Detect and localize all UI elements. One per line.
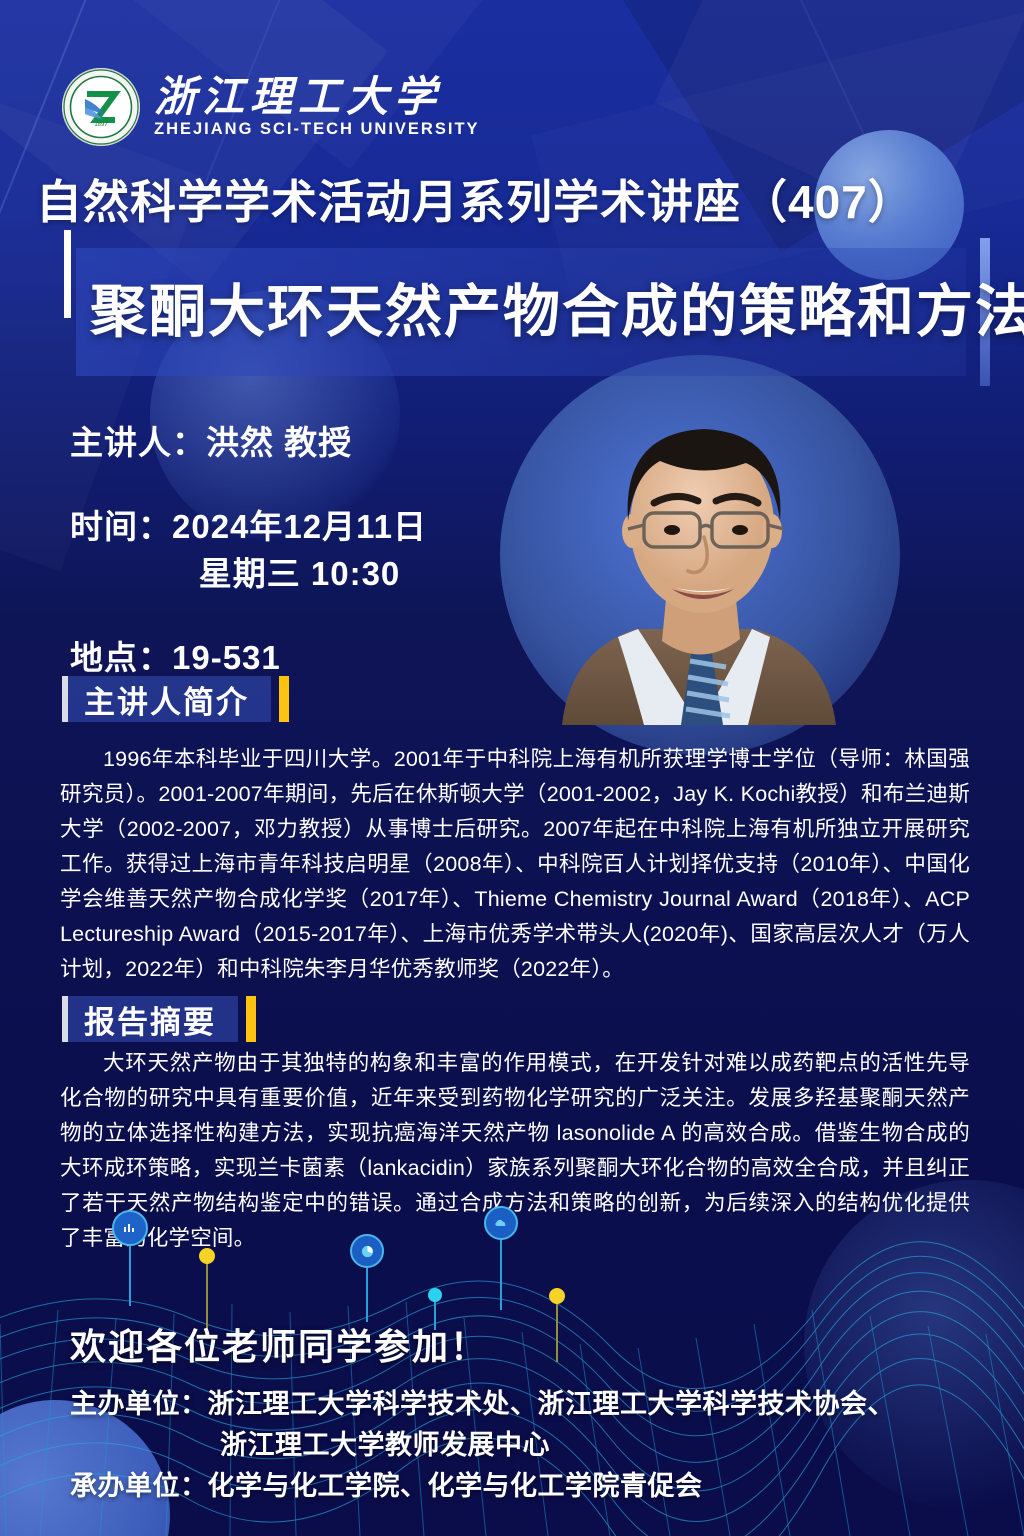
speaker-row: 主讲人：洪然 教授 <box>70 425 427 461</box>
speaker-name: 洪然 教授 <box>206 424 352 461</box>
section-bar-white <box>62 676 68 722</box>
chart-pin-icon <box>112 1210 148 1306</box>
host-label: 主办单位： <box>70 1389 208 1419</box>
time-value: 2024年12月11日 星期三 10:30 <box>172 509 427 592</box>
time-row: 时间： 2024年12月11日 星期三 10:30 <box>70 509 427 592</box>
section-bar-yellow <box>246 996 256 1042</box>
place-value: 19-531 <box>172 639 281 676</box>
place-label: 地点： <box>70 639 172 676</box>
poster-root: 1897 浙江理工大学 ZHEJIANG SCI-TECH UNIVERSITY… <box>0 0 1024 1536</box>
organizers-block: 主办单位：浙江理工大学科学技术处、浙江理工大学科学技术协会、 浙江理工大学教师发… <box>70 1384 990 1507</box>
organizer-label: 承办单位： <box>70 1471 208 1501</box>
yellow-dot-pin-right <box>548 1288 566 1362</box>
pie-pin-icon <box>350 1234 384 1322</box>
host-line2: 浙江理工大学教师发展中心 <box>70 1425 990 1466</box>
series-title: 自然科学学术活动月系列学术讲座（407） <box>36 166 996 232</box>
svg-text:1897: 1897 <box>94 122 108 128</box>
section-plate: 主讲人简介 <box>68 676 271 722</box>
university-emblem-icon: 1897 <box>62 68 140 146</box>
title-tick-left <box>64 230 71 318</box>
time-date: 2024年12月11日 <box>172 509 427 545</box>
event-info: 主讲人：洪然 教授 时间： 2024年12月11日 星期三 10:30 地点：1… <box>70 425 427 676</box>
section-plate: 报告摘要 <box>68 996 238 1042</box>
section-bar-white <box>62 996 68 1042</box>
university-logo: 1897 浙江理工大学 ZHEJIANG SCI-TECH UNIVERSITY <box>62 68 480 146</box>
organizer-line: 化学与化工学院、化学与化工学院青促会 <box>208 1471 703 1501</box>
university-name-en: ZHEJIANG SCI-TECH UNIVERSITY <box>154 121 480 138</box>
cloud-pin-icon <box>484 1206 518 1310</box>
speaker-label: 主讲人： <box>70 424 206 461</box>
yellow-dot-pin <box>198 1248 216 1328</box>
section-header-abstract: 报告摘要 <box>62 996 256 1042</box>
time-label: 时间： <box>70 509 172 545</box>
host-line1: 浙江理工大学科学技术处、浙江理工大学科学技术协会、 <box>208 1389 896 1419</box>
section-header-bio: 主讲人简介 <box>62 676 289 722</box>
lecture-title-band: 聚酮大环天然产物合成的策略和方法 <box>76 248 966 376</box>
lecture-title: 聚酮大环天然产物合成的策略和方法 <box>90 266 950 348</box>
section-bar-yellow <box>279 676 289 722</box>
bio-paragraph: 1996年本科毕业于四川大学。2001年于中科院上海有机所获理学博士学位（导师：… <box>60 742 970 987</box>
university-wordmark: 浙江理工大学 ZHEJIANG SCI-TECH UNIVERSITY <box>154 77 480 138</box>
time-weekday: 星期三 10:30 <box>199 556 401 592</box>
welcome-text: 欢迎各位老师同学参加！ <box>70 1318 488 1370</box>
university-name-cn: 浙江理工大学 <box>154 77 480 119</box>
speaker-portrait <box>520 385 875 725</box>
bio-heading-text: 主讲人简介 <box>84 677 249 722</box>
place-row: 地点：19-531 <box>70 640 427 676</box>
abstract-heading-text: 报告摘要 <box>84 997 216 1042</box>
